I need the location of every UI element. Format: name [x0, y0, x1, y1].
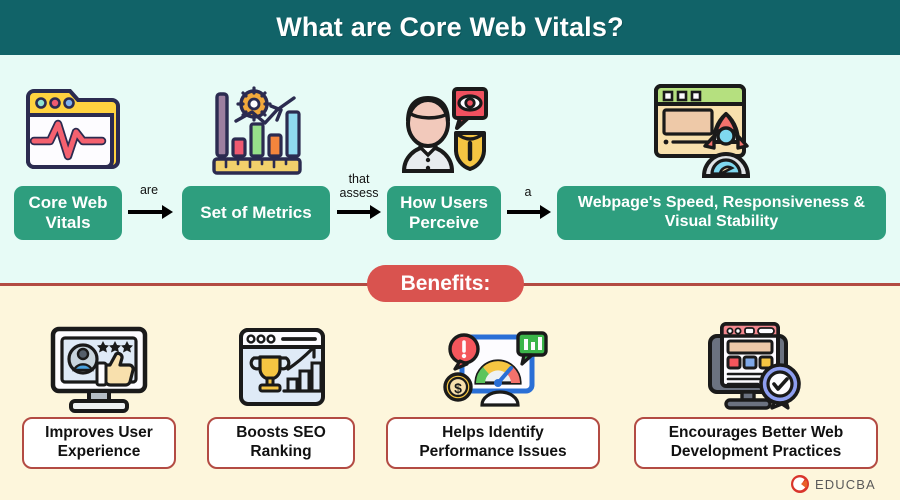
benefit-box-boosts-seo-ranking[interactable]: Boosts SEO Ranking [207, 417, 355, 469]
educba-branding: EDUCBA [790, 474, 876, 494]
benefit-box-helps-identify-performance-issues[interactable]: Helps Identify Performance Issues [386, 417, 600, 469]
flow-box-set-of-metrics[interactable]: Set of Metrics [182, 186, 330, 240]
arrow-right-icon-2 [337, 205, 381, 219]
monitor-speedometer-alert-icon: $ [442, 325, 550, 418]
flow-box-webpage-speed[interactable]: Webpage's Speed, Responsiveness & Visual… [557, 186, 886, 240]
bar-chart-gear-ruler-icon [208, 82, 306, 181]
connector-label-a: a [508, 186, 548, 200]
infographic-canvas: What are Core Web Vitals? [0, 0, 900, 500]
user-eye-shield-icon [390, 83, 488, 180]
monitor-rating-thumbsup-icon [45, 325, 153, 418]
flow-box-core-web-vitals[interactable]: Core Web Vitals [14, 186, 122, 240]
benefit-box-encourages-better-web-development[interactable]: Encourages Better Web Development Practi… [634, 417, 878, 469]
arrow-right-icon-3 [507, 205, 551, 219]
arrow-right-icon-1 [128, 205, 173, 219]
monitor-webpage-badge-icon [700, 318, 808, 418]
browser-pulse-icon [22, 83, 120, 180]
benefits-banner-label: Benefits: [401, 272, 491, 296]
benefits-banner: Benefits: [367, 265, 524, 302]
connector-label-that-assess: that assess [333, 173, 385, 200]
page-title: What are Core Web Vitals? [276, 12, 624, 43]
svg-text:$: $ [454, 380, 462, 396]
educba-wordmark: EDUCBA [815, 477, 876, 492]
flow-box-how-users-perceive[interactable]: How Users Perceive [387, 186, 501, 240]
benefit-box-improves-user-experience[interactable]: Improves User Experience [22, 417, 176, 469]
educba-swirl-icon [790, 474, 810, 494]
connector-label-are: are [126, 184, 172, 198]
browser-trophy-growth-icon [236, 325, 328, 414]
browser-rocket-speedometer-icon [650, 80, 760, 185]
header-bar: What are Core Web Vitals? [0, 0, 900, 55]
